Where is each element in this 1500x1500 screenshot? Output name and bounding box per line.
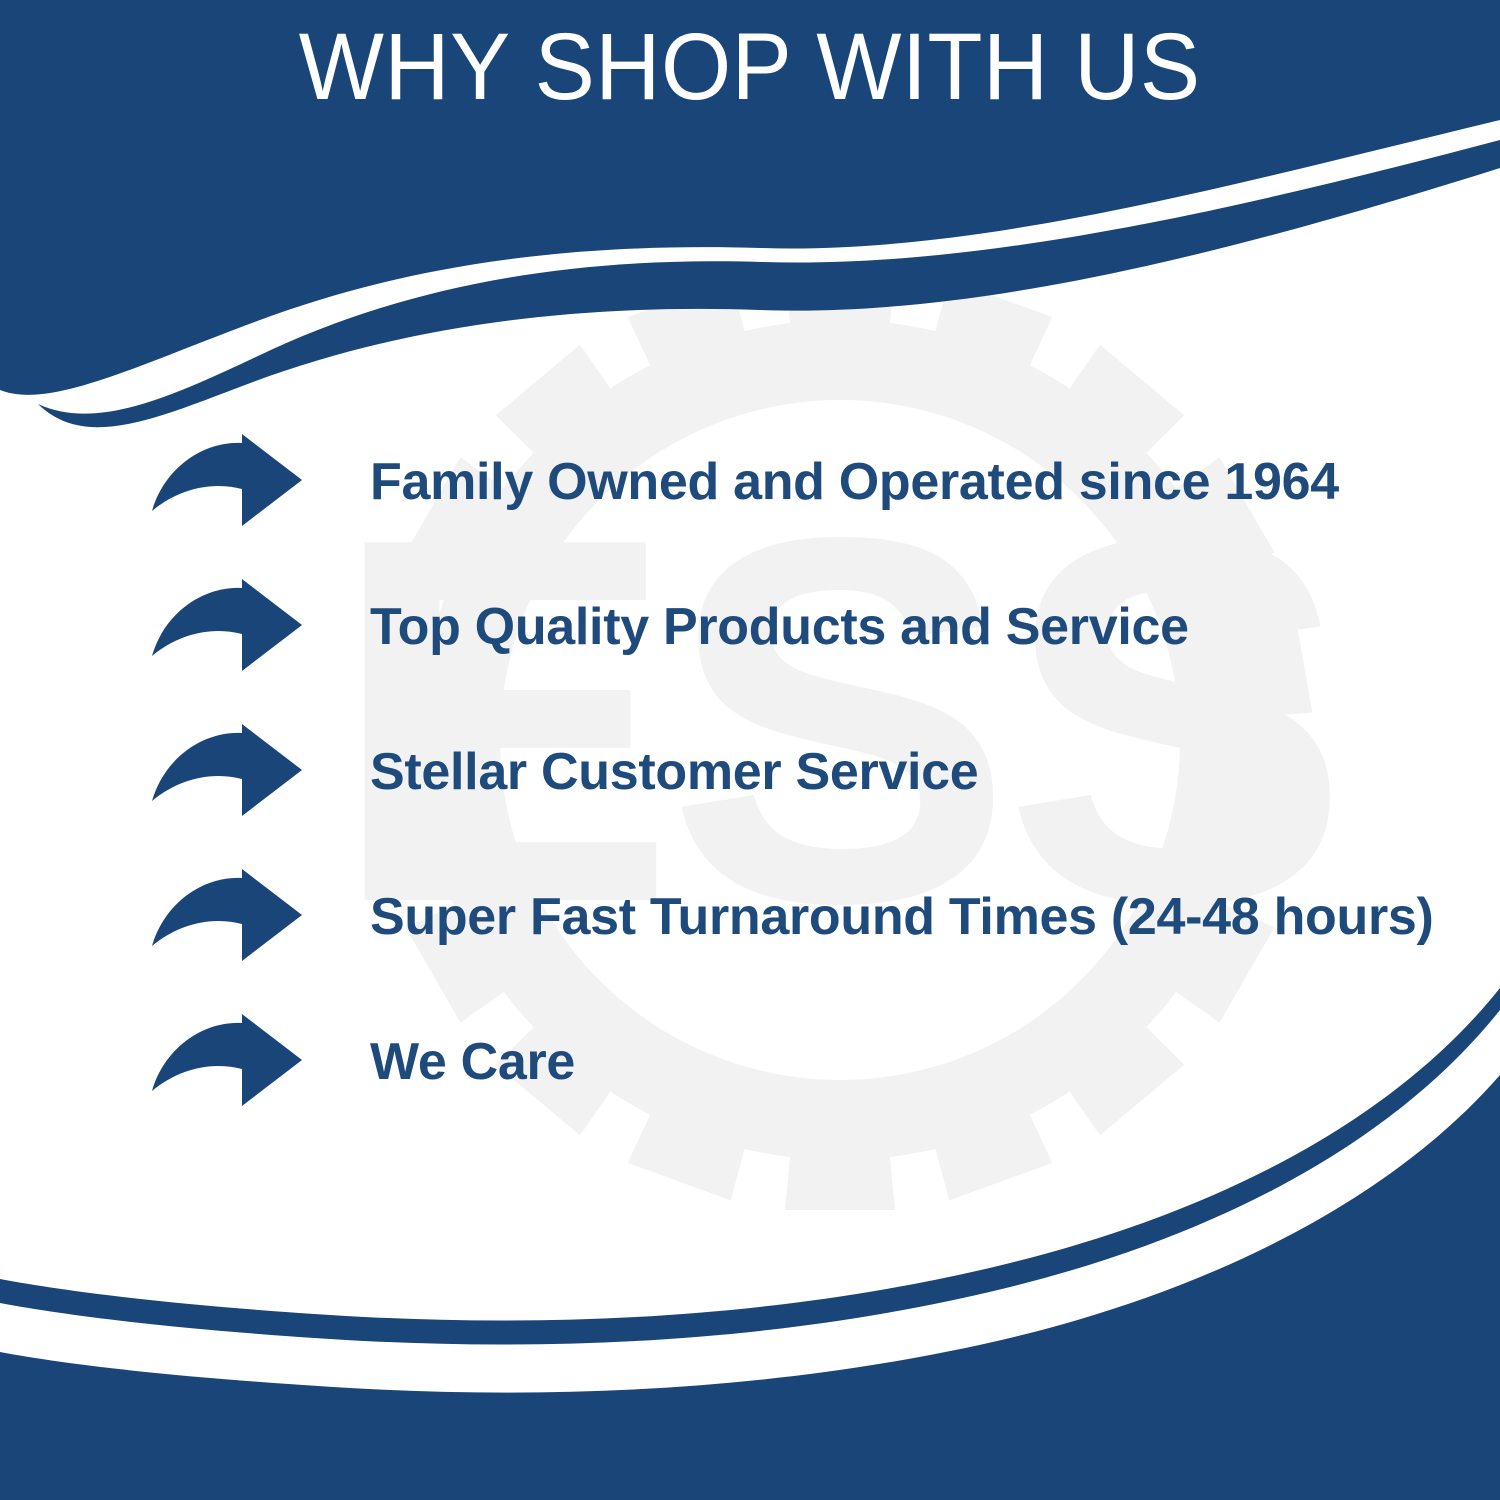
list-item-label: We Care: [370, 1035, 1440, 1090]
bottom-wave-blue-mass: [0, 1075, 1500, 1500]
header-band: WHY SHOP WITH US: [0, 0, 1500, 150]
list-item-label: Super Fast Turnaround Times (24-48 hours…: [370, 890, 1440, 945]
curved-arrow-right-icon: [150, 723, 305, 823]
curved-arrow-right-icon: [150, 1013, 305, 1113]
list-item-label: Top Quality Products and Service: [370, 600, 1440, 655]
curved-arrow-right-icon: [150, 433, 305, 533]
list-item[interactable]: Family Owned and Operated since 1964: [150, 430, 1440, 535]
list-item-label: Family Owned and Operated since 1964: [370, 455, 1440, 510]
list-item[interactable]: Stellar Customer Service: [150, 720, 1440, 825]
curved-arrow-right-icon: [150, 868, 305, 968]
curved-arrow-right-icon: [150, 578, 305, 678]
list-item[interactable]: We Care: [150, 1010, 1440, 1115]
benefits-list: Family Owned and Operated since 1964 Top…: [150, 430, 1440, 1115]
why-shop-with-us-poster: ESS WHY SHOP WITH US Family Owned and Op…: [0, 0, 1500, 1500]
list-item[interactable]: Super Fast Turnaround Times (24-48 hours…: [150, 865, 1440, 970]
list-item[interactable]: Top Quality Products and Service: [150, 575, 1440, 680]
page-title: WHY SHOP WITH US: [299, 0, 1201, 118]
top-wave-accent-stripe: [38, 140, 1500, 427]
list-item-label: Stellar Customer Service: [370, 745, 1440, 800]
